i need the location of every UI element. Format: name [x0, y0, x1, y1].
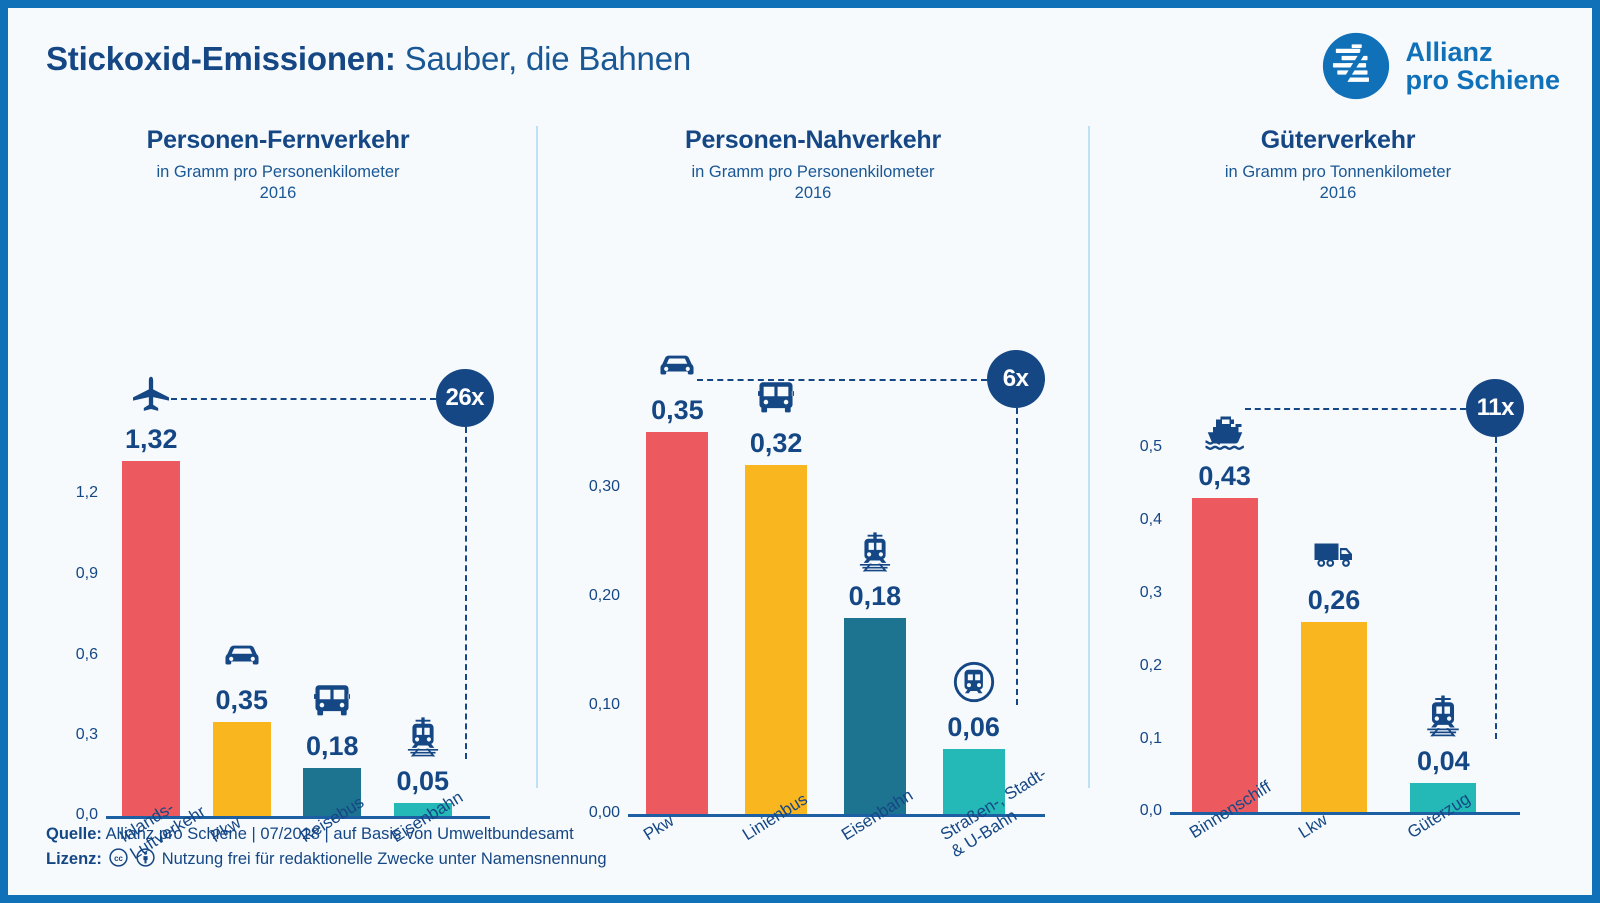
page-title-strong: Stickoxid-Emissionen: — [46, 40, 396, 77]
chart-panel-personen-nahverkehr: Personen-Nahverkehr in Gramm pro Persone… — [548, 126, 1078, 796]
bar-value-label: 1,32 — [125, 424, 178, 455]
annotation-leader-horizontal — [171, 398, 436, 400]
chart-panel-gueterverkehr: Güterverkehr in Gramm pro Tonnenkilomete… — [1098, 126, 1578, 796]
bar-value-label: 0,04 — [1417, 746, 1470, 777]
bar-value-label: 0,18 — [306, 731, 359, 762]
y-axis-tick-label: 0,4 — [1140, 511, 1162, 529]
y-axis-tick-label: 0,2 — [1140, 657, 1162, 675]
factor-badge: 11x — [1466, 379, 1524, 437]
bar-icon-wrapper — [309, 678, 355, 724]
bar-icon-wrapper — [1419, 691, 1467, 739]
bar[interactable] — [646, 432, 708, 814]
bar-group: 0,26 — [1301, 414, 1367, 812]
logo-line-1: Allianz — [1405, 38, 1560, 66]
annotation-leader-horizontal — [1245, 408, 1467, 410]
bar-value-label: 0,26 — [1308, 585, 1361, 616]
bus-icon — [753, 375, 799, 421]
plot-area: 0,000,100,200,300,35Pkw0,32Linienbus0,18… — [548, 126, 1078, 796]
bar-value-label: 0,05 — [396, 766, 449, 797]
bar-group: 0,06 — [943, 394, 1005, 814]
factor-badge: 6x — [987, 350, 1045, 408]
annotation-leader-vertical — [465, 427, 467, 759]
bar-icon-wrapper — [128, 371, 174, 417]
bar-group: 0,35 — [646, 394, 708, 814]
bar-group: 0,04 — [1410, 414, 1476, 812]
bar-value-label: 0,32 — [750, 428, 803, 459]
bar-icon-wrapper — [400, 713, 446, 759]
creative-commons-icon: cc — [109, 848, 128, 867]
y-axis-tick-label: 1,2 — [76, 484, 98, 502]
bar-icon-wrapper — [753, 375, 799, 421]
bar-group: 0,35 — [213, 426, 271, 816]
train-icon — [852, 528, 898, 574]
panel-divider-2 — [1088, 126, 1090, 788]
y-axis-tick-label: 0,20 — [589, 587, 620, 605]
bar[interactable] — [122, 461, 180, 816]
y-axis-tick-label: 0,6 — [76, 646, 98, 664]
annotation-leader-horizontal — [697, 379, 986, 381]
bar-value-label: 0,43 — [1198, 461, 1251, 492]
ship-icon — [1201, 406, 1249, 454]
y-axis-tick-label: 0,3 — [1140, 584, 1162, 602]
y-axis-tick-label: 0,30 — [589, 478, 620, 496]
panel-divider-1 — [536, 126, 538, 788]
bar[interactable] — [745, 465, 807, 814]
bar-icon-wrapper — [1201, 406, 1249, 454]
chart-panel-personen-fernverkehr: Personen-Fernverkehr in Gramm pro Person… — [28, 126, 528, 796]
y-axis-tick-label: 0,0 — [1140, 802, 1162, 820]
bar-group: 0,05 — [394, 426, 452, 816]
logo-text: Allianz pro Schiene — [1405, 38, 1560, 94]
bar-group: 0,18 — [844, 394, 906, 814]
bar-icon-wrapper — [1310, 530, 1358, 578]
y-axis-tick-label: 0,9 — [76, 565, 98, 583]
annotation-leader-vertical — [1016, 408, 1018, 705]
bar-group: 1,32 — [122, 426, 180, 816]
footer: Quelle: Allianz pro Schiene | 07/2018 | … — [46, 822, 607, 873]
allianz-pro-schiene-logo-icon — [1320, 30, 1392, 102]
bar-icon-wrapper — [654, 342, 700, 388]
y-axis-tick-label: 0,3 — [76, 726, 98, 744]
page-title: Stickoxid-Emissionen: Sauber, die Bahnen — [46, 40, 691, 78]
bar-icon-wrapper — [852, 528, 898, 574]
bar-group: 0,32 — [745, 394, 807, 814]
bar-group: 0,18 — [303, 426, 361, 816]
bar-value-label: 0,18 — [849, 581, 902, 612]
footer-source-line: Quelle: Allianz pro Schiene | 07/2018 | … — [46, 822, 607, 848]
bar-value-label: 0,06 — [947, 712, 1000, 743]
truck-icon — [1310, 530, 1358, 578]
infographic-frame: Stickoxid-Emissionen: Sauber, die Bahnen — [8, 8, 1592, 895]
y-axis-tick-label: 0,10 — [589, 696, 620, 714]
bar[interactable] — [213, 722, 271, 816]
logo-line-2: pro Schiene — [1405, 66, 1560, 94]
page-title-light: Sauber, die Bahnen — [396, 40, 691, 77]
footer-source-text: Allianz pro Schiene | 07/2018 | auf Basi… — [106, 825, 574, 843]
bus-icon — [309, 678, 355, 724]
y-axis-tick-label: 0,1 — [1140, 730, 1162, 748]
factor-badge: 26x — [436, 369, 494, 427]
bar-icon-wrapper — [951, 659, 997, 705]
plot-area: 0,00,30,60,91,21,32Inlands-Luftverkehr0,… — [28, 126, 528, 796]
svg-text:cc: cc — [114, 854, 123, 863]
footer-license-line: Lizenz: cc Nutzung frei für redaktionell… — [46, 847, 607, 873]
header: Stickoxid-Emissionen: Sauber, die Bahnen — [8, 8, 1592, 118]
bar-group: 0,43 — [1192, 414, 1258, 812]
bar-icon-wrapper — [219, 632, 265, 678]
bar-value-label: 0,35 — [215, 685, 268, 716]
car-icon — [219, 632, 265, 678]
bar-value-label: 0,35 — [651, 395, 704, 426]
footer-license-label: Lizenz: — [46, 850, 102, 868]
plot-area: 0,00,10,20,30,40,50,43Binnenschiff0,26Lk… — [1098, 126, 1578, 796]
bar[interactable] — [1192, 498, 1258, 812]
footer-license-text: Nutzung frei für redaktionelle Zwecke un… — [162, 850, 607, 868]
footer-source-label: Quelle: — [46, 825, 102, 843]
logo[interactable]: Allianz pro Schiene — [1320, 30, 1560, 102]
annotation-leader-vertical — [1495, 437, 1497, 739]
metro-icon — [951, 659, 997, 705]
bar[interactable] — [1301, 622, 1367, 812]
cc-by-icon — [136, 848, 155, 867]
bar[interactable] — [844, 618, 906, 814]
train-icon — [400, 713, 446, 759]
train-icon — [1419, 691, 1467, 739]
y-axis-tick-label: 0,00 — [589, 804, 620, 822]
airplane-icon — [128, 371, 174, 417]
car-icon — [654, 342, 700, 388]
y-axis-tick-label: 0,5 — [1140, 438, 1162, 456]
